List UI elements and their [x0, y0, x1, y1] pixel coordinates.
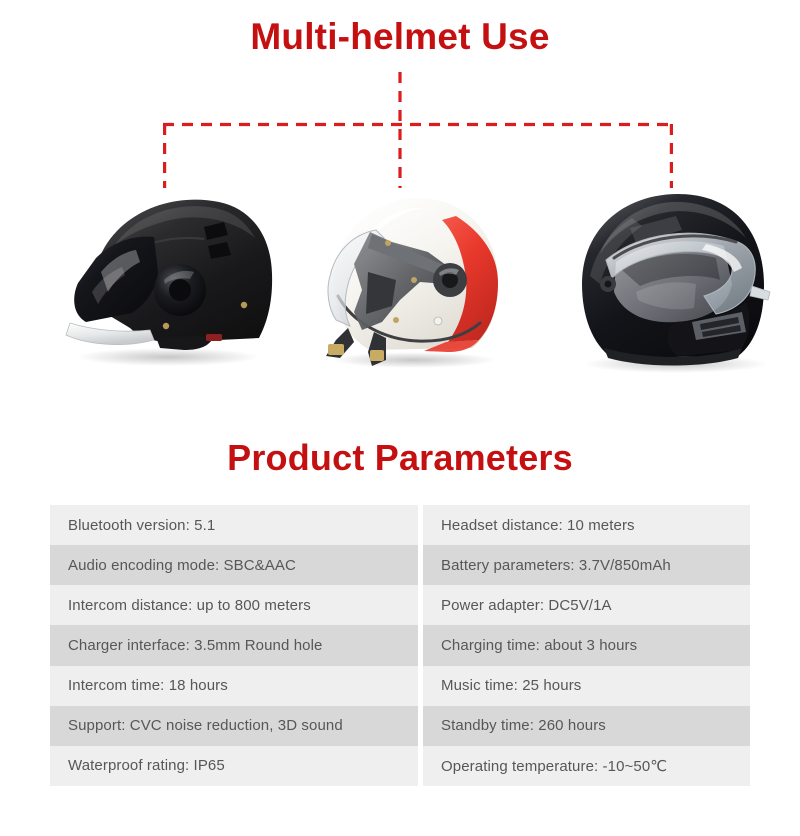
- helmet-rivet-lower: [393, 317, 399, 323]
- param-cell-right: Battery parameters: 3.7V/850mAh: [423, 545, 750, 585]
- helmet-image-open-face-red: [296, 180, 524, 380]
- product-parameters-table: Bluetooth version: 5.1 Headset distance:…: [50, 505, 750, 786]
- table-row: Intercom time: 18 hours Music time: 25 h…: [50, 666, 750, 706]
- param-cell-left: Intercom distance: up to 800 meters: [50, 585, 418, 625]
- table-row: Intercom distance: up to 800 meters Powe…: [50, 585, 750, 625]
- helmet-snap-button: [434, 317, 442, 325]
- param-cell-right: Operating temperature: -10~50℃: [423, 746, 750, 786]
- param-cell-left: Audio encoding mode: SBC&AAC: [50, 545, 418, 585]
- helmet-rivet-mid: [411, 277, 417, 283]
- table-row: Audio encoding mode: SBC&AAC Battery par…: [50, 545, 750, 585]
- helmet-buckle-right: [370, 350, 384, 361]
- param-cell-left: Support: CVC noise reduction, 3D sound: [50, 706, 418, 746]
- param-cell-right: Charging time: about 3 hours: [423, 625, 750, 665]
- helmet-side-plate-inner: [605, 281, 612, 288]
- param-cell-left: Charger interface: 3.5mm Round hole: [50, 625, 418, 665]
- table-row: Charger interface: 3.5mm Round hole Char…: [50, 625, 750, 665]
- table-row: Bluetooth version: 5.1 Headset distance:…: [50, 505, 750, 545]
- helmet-gallery: [0, 180, 800, 380]
- connector-bracket: [0, 60, 800, 200]
- param-cell-left: Waterproof rating: IP65: [50, 746, 418, 786]
- helmet-rivet-front: [163, 323, 169, 329]
- table-row: Support: CVC noise reduction, 3D sound S…: [50, 706, 750, 746]
- page-title-multi-helmet: Multi-helmet Use: [0, 16, 800, 58]
- helmet-image-full-face-black: [556, 180, 792, 380]
- helmet-rivet-rear: [241, 302, 247, 308]
- table-row: Waterproof rating: IP65 Operating temper…: [50, 746, 750, 786]
- helmet-shadow: [76, 348, 260, 366]
- param-cell-right: Standby time: 260 hours: [423, 706, 750, 746]
- helmet-visor-pivot-inner: [169, 279, 191, 301]
- param-cell-left: Bluetooth version: 5.1: [50, 505, 418, 545]
- helmet-strap-clip: [206, 334, 222, 341]
- page-title-product-parameters: Product Parameters: [0, 437, 800, 479]
- helmet-rivet-top: [385, 240, 391, 246]
- helmet-chin-base: [156, 336, 214, 350]
- helmet-image-open-face-black: [28, 180, 290, 380]
- param-cell-right: Power adapter: DC5V/1A: [423, 585, 750, 625]
- helmet-shadow: [332, 352, 496, 368]
- param-cell-left: Intercom time: 18 hours: [50, 666, 418, 706]
- param-cell-right: Music time: 25 hours: [423, 666, 750, 706]
- param-cell-right: Headset distance: 10 meters: [423, 505, 750, 545]
- helmet-buckle-left: [328, 344, 344, 355]
